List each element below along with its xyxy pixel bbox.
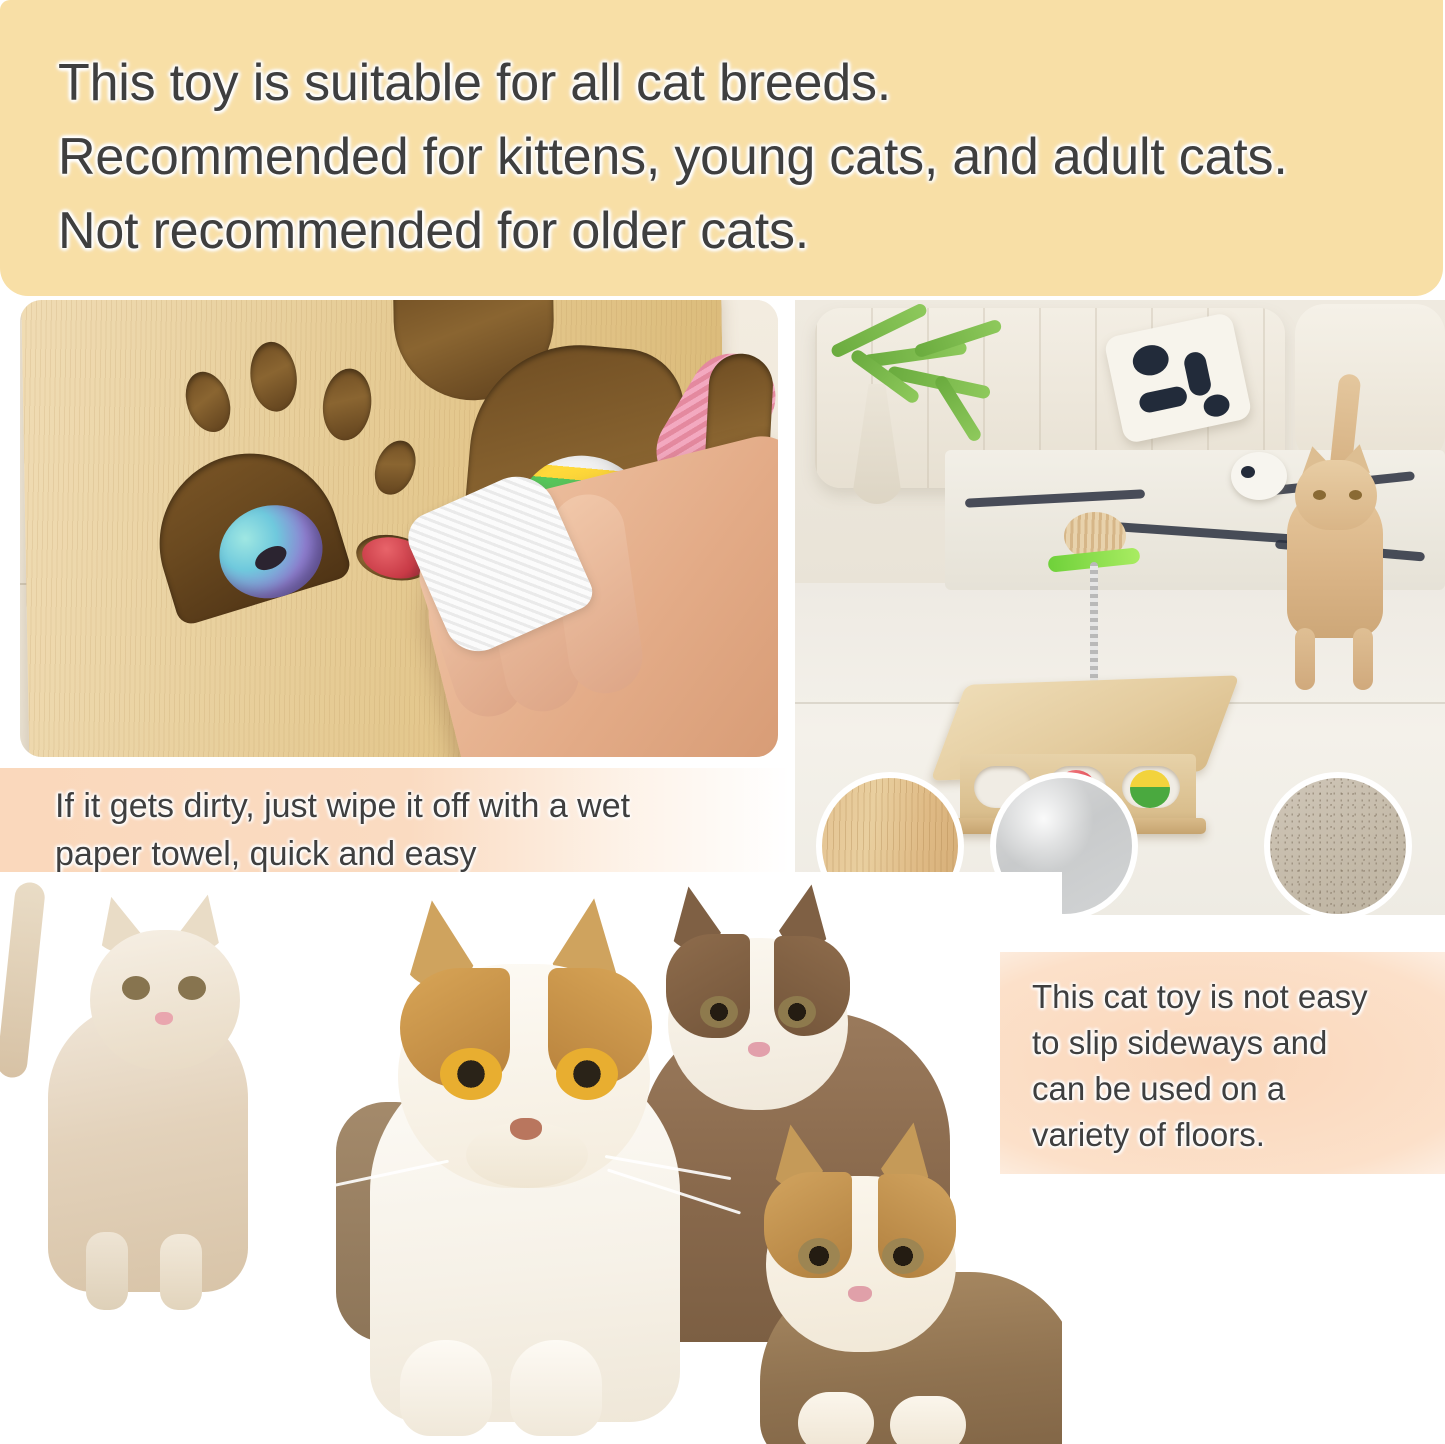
cat-nose [510, 1118, 542, 1140]
paw-pad-cutout [137, 431, 353, 627]
kitten-tail [0, 881, 46, 1079]
infographic-canvas: This toy is suitable for all cat breeds.… [0, 0, 1445, 1444]
floor-caption-bar: This cat toy is not easy to slip sideway… [1000, 952, 1445, 1174]
teal-purple-ball [208, 493, 334, 611]
kitten-leg [86, 1232, 128, 1310]
kitten-eye [882, 1238, 924, 1274]
cat-eye [1313, 490, 1326, 500]
cat-eye [1349, 490, 1362, 500]
kitten-eye [778, 996, 816, 1028]
kitten-nose [748, 1042, 770, 1057]
wipe-caption-bar: If it gets dirty, just wipe it off with … [0, 768, 790, 888]
header-banner: This toy is suitable for all cat breeds.… [0, 0, 1443, 296]
orange-tabby-cat [1269, 378, 1399, 708]
kitten-leg [160, 1234, 202, 1310]
kitten-head [90, 930, 240, 1070]
cat-leg [1353, 628, 1373, 690]
kitten-paw [890, 1396, 966, 1444]
wipe-caption-text: If it gets dirty, just wipe it off with … [55, 782, 755, 878]
cat-leg [1295, 628, 1315, 690]
kitten-eye [700, 996, 738, 1028]
green-yellow-ball [1130, 770, 1170, 808]
cat-eye [556, 1048, 618, 1100]
paw-toe-cutout [247, 339, 301, 414]
cat-eye [440, 1048, 502, 1100]
kitten-eye [122, 976, 150, 1000]
kitten-nose [155, 1012, 173, 1025]
carpet-floor-swatch [1264, 772, 1412, 920]
floor-caption-text: This cat toy is not easy to slip sideway… [1032, 974, 1432, 1158]
paw-toe-cutout [319, 366, 375, 443]
kitten-nose [848, 1286, 872, 1302]
fern-plant [817, 306, 1027, 446]
cat-paw [400, 1340, 492, 1436]
cats-group-photo [0, 872, 1062, 1444]
kitten-paw [798, 1392, 874, 1444]
cat-head [1295, 460, 1377, 530]
kitten-eye [178, 976, 206, 1000]
wipe-demo-photo [20, 300, 778, 757]
cat-paw [510, 1340, 602, 1436]
kitten-eye [798, 1238, 840, 1274]
header-text: This toy is suitable for all cat breeds.… [58, 46, 1398, 268]
paw-toe-cutout [367, 435, 423, 501]
spring-coil [1090, 562, 1098, 688]
paw-toe-cutout [178, 366, 238, 438]
